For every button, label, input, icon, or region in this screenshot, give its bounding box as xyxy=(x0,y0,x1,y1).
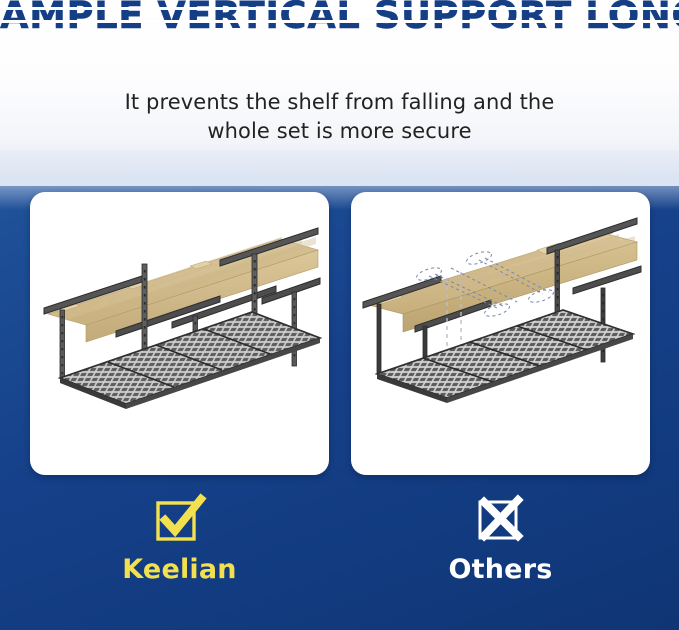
rack-illustration-others xyxy=(351,192,650,475)
product-card-others xyxy=(351,192,650,475)
headline-line-1: AMPLE VERTICAL SUPPORT xyxy=(0,0,572,36)
checkbox-cross-icon xyxy=(474,492,528,546)
comparison-footer: Keelian Others xyxy=(0,492,679,602)
comparison-column-keelian: Keelian xyxy=(30,492,329,585)
product-card-keelian xyxy=(30,192,329,475)
checkbox-check-icon xyxy=(153,492,207,546)
headline: AMPLE VERTICAL SUPPORT LONGER CEILING BR… xyxy=(0,0,679,36)
subtitle-line-2: whole set is more secure xyxy=(0,117,679,146)
headline-line-2: LONGER CEILING BRACKETS xyxy=(585,0,679,36)
product-comparison-poster: AMPLE VERTICAL SUPPORT LONGER CEILING BR… xyxy=(0,0,679,630)
verdict-label-keelian: Keelian xyxy=(30,554,329,585)
comparison-column-others: Others xyxy=(351,492,650,585)
verdict-label-others: Others xyxy=(351,554,650,585)
subtitle-line-1: It prevents the shelf from falling and t… xyxy=(0,88,679,117)
subtitle: It prevents the shelf from falling and t… xyxy=(0,88,679,146)
rack-illustration-keelian xyxy=(30,192,329,475)
